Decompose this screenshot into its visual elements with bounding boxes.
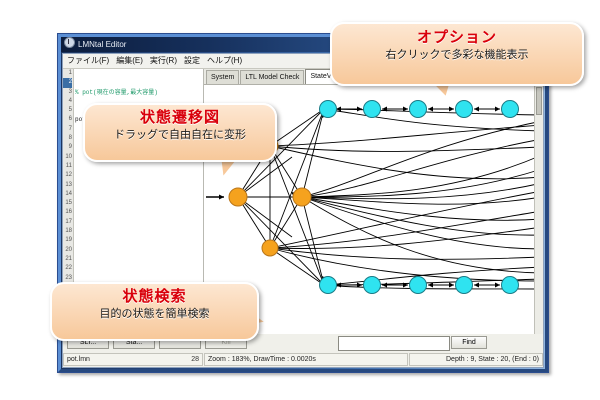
app-icon xyxy=(64,37,75,48)
graph-node xyxy=(456,277,473,294)
graph-node xyxy=(364,101,381,118)
status-file: 28 pot.lmn xyxy=(63,353,203,366)
callout-title: オプション xyxy=(332,28,582,48)
find-button[interactable]: Find xyxy=(451,336,487,349)
line-number: 8 xyxy=(63,134,72,143)
code-line xyxy=(75,171,203,180)
callout-subtitle: 目的の状態を簡単検索 xyxy=(52,307,257,322)
code-line xyxy=(75,227,203,236)
line-number: 19 xyxy=(63,236,72,245)
code-line xyxy=(75,199,203,208)
menu-item-run[interactable]: 実行(R) xyxy=(150,54,177,68)
graph-arrowheads xyxy=(336,107,500,288)
window-title: LMNtal Editor xyxy=(78,40,126,49)
line-number: 20 xyxy=(63,246,72,255)
callout-state-transition: 状態遷移図 ドラッグで自由自在に変形 xyxy=(83,103,277,162)
line-number: 9 xyxy=(63,143,72,152)
line-number: 6 xyxy=(63,115,72,124)
tab-system[interactable]: System xyxy=(206,70,239,84)
graph-node xyxy=(410,101,427,118)
line-number: 13 xyxy=(63,181,72,190)
callout-option: オプション 右クリックで多彩な機能表示 xyxy=(330,22,584,86)
menu-item-settings[interactable]: 設定 xyxy=(184,54,200,68)
graph-node xyxy=(293,188,311,206)
menu-item-help[interactable]: ヘルプ(H) xyxy=(207,54,242,68)
line-number: 1 xyxy=(63,69,72,78)
line-number: 21 xyxy=(63,255,72,264)
graph-node xyxy=(410,277,427,294)
line-number: 15 xyxy=(63,199,72,208)
line-number: 16 xyxy=(63,208,72,217)
tab-ltl-model-check[interactable]: LTL Model Check xyxy=(240,70,304,84)
status-depth: Depth : 9, State : 20, (End : 0) xyxy=(409,353,543,366)
scrollbar-thumb[interactable] xyxy=(536,87,542,115)
status-bar: 28 pot.lmn Zoom : 183%, DrawTime : 0.002… xyxy=(63,353,543,367)
line-number: 10 xyxy=(63,153,72,162)
menu-item-edit[interactable]: 編集(E) xyxy=(116,54,143,68)
menu-item-file[interactable]: ファイル(F) xyxy=(67,54,109,68)
code-line xyxy=(75,255,203,264)
line-number: 7 xyxy=(63,125,72,134)
code-line: % pot(現在の容量,最大容量) xyxy=(75,88,203,97)
callout-subtitle: 右クリックで多彩な機能表示 xyxy=(332,48,582,63)
line-number: 12 xyxy=(63,171,72,180)
graph-node xyxy=(456,101,473,118)
line-number: 3 xyxy=(63,88,72,97)
graph-node xyxy=(262,240,278,256)
status-file-name: pot.lmn xyxy=(67,356,90,363)
callout-subtitle: ドラッグで自由自在に変形 xyxy=(85,128,275,143)
graph-node xyxy=(320,277,337,294)
graph-node-start xyxy=(229,188,247,206)
viewer-vertical-scrollbar[interactable] xyxy=(534,85,543,334)
find-input[interactable] xyxy=(338,336,450,351)
line-number: 5 xyxy=(63,106,72,115)
line-number: 22 xyxy=(63,264,72,273)
graph-node xyxy=(364,277,381,294)
line-number: 2 xyxy=(63,78,72,87)
callout-title: 状態検索 xyxy=(52,287,257,307)
line-number: 4 xyxy=(63,97,72,106)
line-number: 18 xyxy=(63,227,72,236)
line-number: 17 xyxy=(63,218,72,227)
callout-title: 状態遷移図 xyxy=(85,108,275,128)
status-file-number: 28 xyxy=(191,354,199,366)
status-zoom: Zoom : 183%, DrawTime : 0.0020s xyxy=(204,353,408,366)
callout-state-search: 状態検索 目的の状態を簡単検索 xyxy=(50,282,259,341)
line-number: 14 xyxy=(63,190,72,199)
graph-node xyxy=(502,277,519,294)
line-number: 11 xyxy=(63,162,72,171)
graph-node xyxy=(320,101,337,118)
graph-node xyxy=(502,101,519,118)
